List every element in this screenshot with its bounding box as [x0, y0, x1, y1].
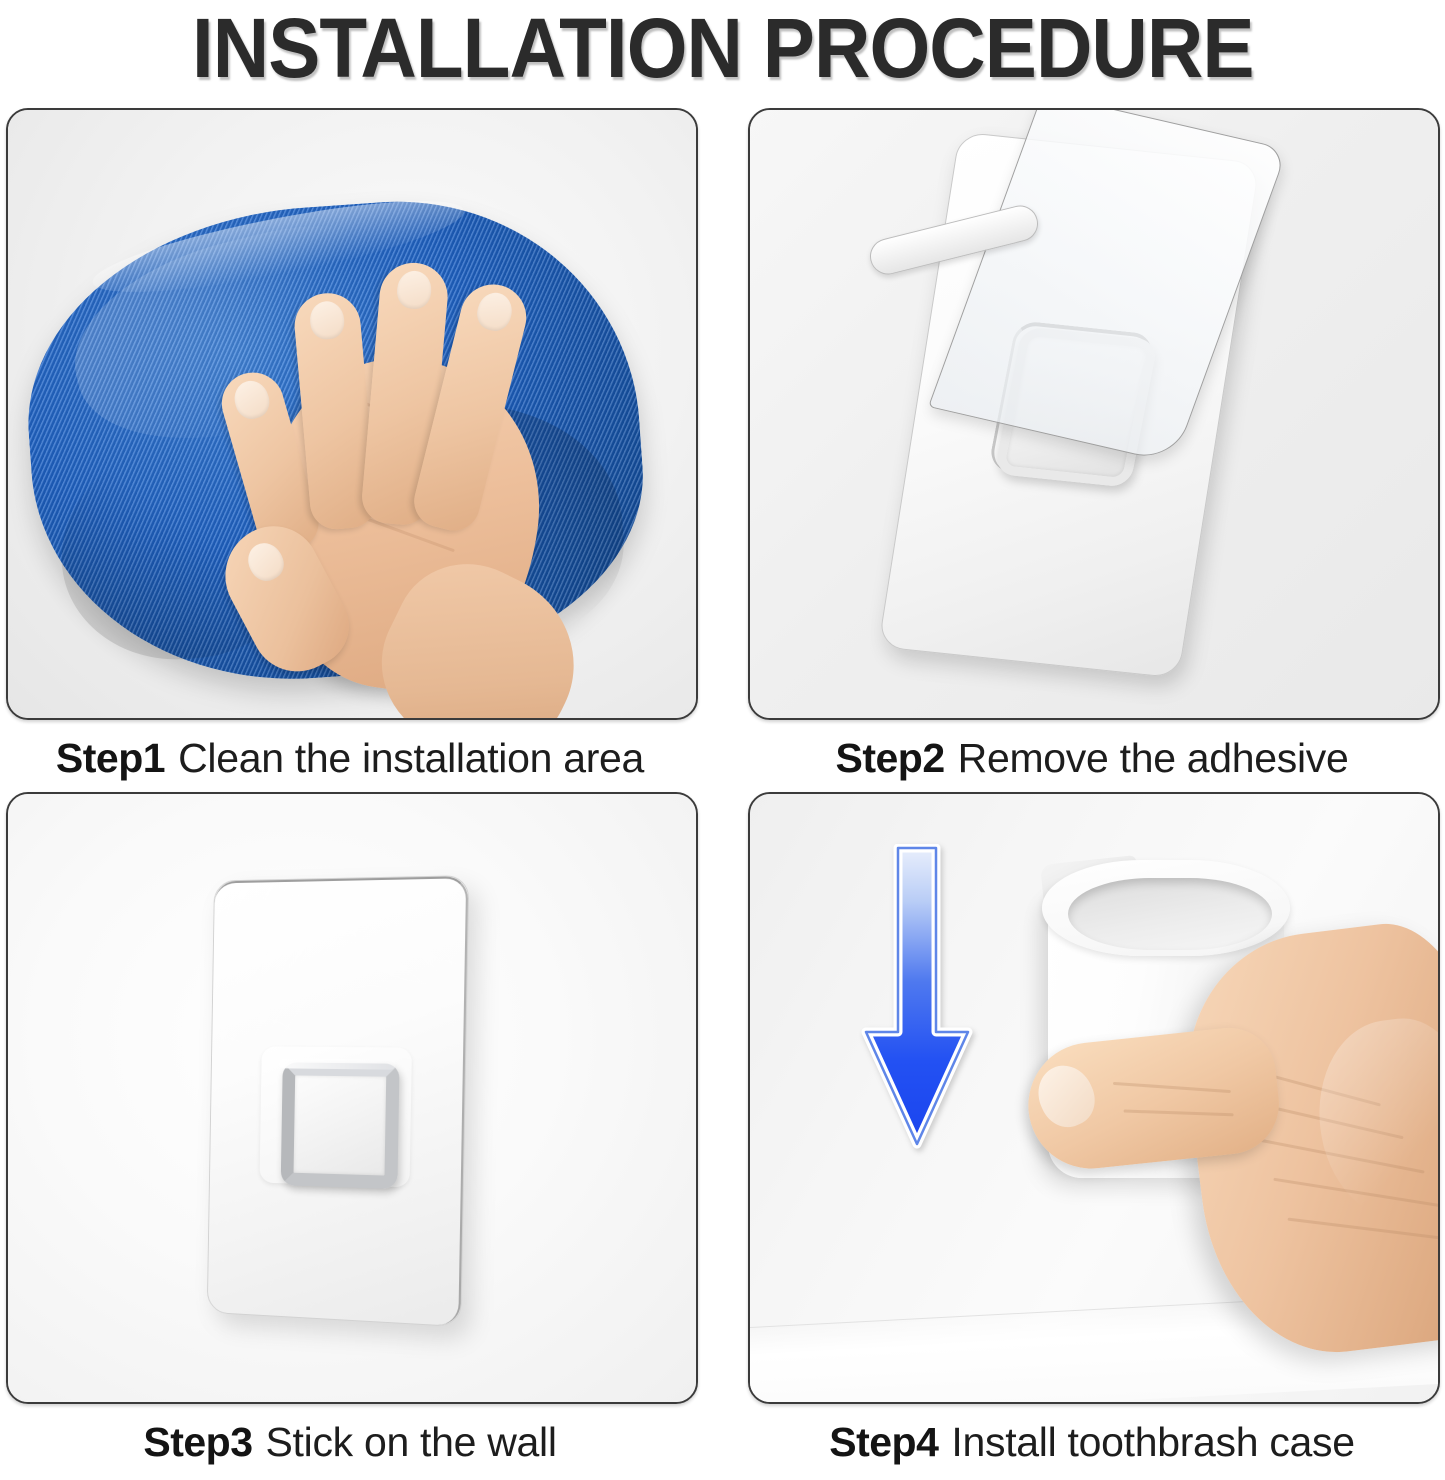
- down-arrow-icon: [858, 844, 976, 1174]
- step-card-1: Step1 Clean the installation area: [6, 108, 696, 796]
- step-3-illustration: [6, 792, 698, 1404]
- step-number: Step2: [835, 735, 944, 782]
- step-card-4: Step4 Install toothbrash case: [748, 792, 1438, 1480]
- square-hook-icon: [281, 1062, 400, 1189]
- step-label: Stick on the wall: [266, 1419, 557, 1466]
- mounted-adhesive-pad-icon: [207, 875, 470, 1327]
- step-2-caption: Step2 Remove the adhesive: [748, 720, 1436, 796]
- hand-icon: [189, 216, 603, 720]
- step-1-caption: Step1 Clean the installation area: [6, 720, 694, 796]
- fingernail: [396, 269, 433, 310]
- page-title: INSTALLATION PROCEDURE: [192, 6, 1254, 90]
- thumbnail: [242, 537, 290, 587]
- step-number: Step1: [56, 735, 165, 782]
- knuckle-highlight: [1308, 1011, 1440, 1228]
- steps-grid: Step1 Clean the installation area Step2 …: [0, 96, 1445, 1464]
- fingernail: [474, 289, 516, 334]
- hook-highlight: [279, 1058, 396, 1069]
- skin-crease: [1287, 1218, 1440, 1241]
- step-label: Install toothbrash case: [951, 1419, 1354, 1466]
- page-header: INSTALLATION PROCEDURE: [0, 0, 1445, 96]
- step-label: Remove the adhesive: [958, 735, 1349, 782]
- step-1-illustration: [6, 108, 698, 720]
- hand-icon: [1080, 840, 1440, 1400]
- fingernail: [230, 377, 273, 423]
- step-4-caption: Step4 Install toothbrash case: [748, 1404, 1436, 1480]
- fingernail: [309, 300, 346, 341]
- step-number: Step3: [143, 1419, 252, 1466]
- skin-crease: [1124, 1109, 1234, 1116]
- step-card-2: Step2 Remove the adhesive: [748, 108, 1438, 796]
- step-3-caption: Step3 Stick on the wall: [6, 1404, 694, 1480]
- step-number: Step4: [829, 1419, 938, 1466]
- step-card-3: Step3 Stick on the wall: [6, 792, 696, 1480]
- step-label: Clean the installation area: [178, 735, 644, 782]
- thumbnail: [1029, 1057, 1104, 1136]
- skin-crease: [1113, 1082, 1231, 1093]
- step-2-illustration: [748, 108, 1440, 720]
- step-4-illustration: [748, 792, 1440, 1404]
